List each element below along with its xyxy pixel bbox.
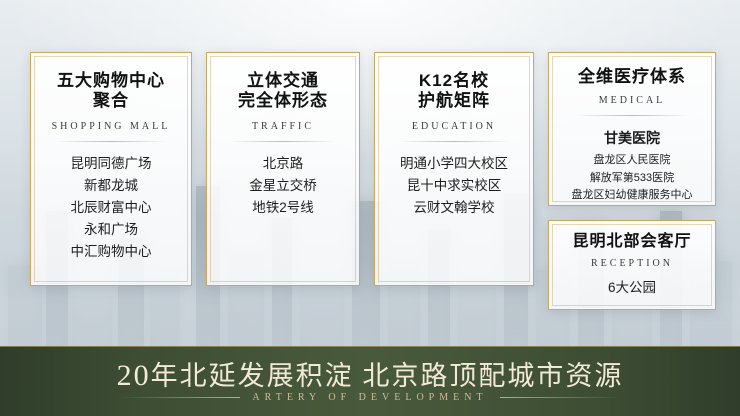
list-item: 明通小学四大校区 [375, 153, 533, 175]
list-item: 中汇购物中心 [31, 241, 191, 263]
card-item-list: 6大公园 [549, 277, 715, 299]
list-item: 北辰财富中心 [31, 197, 191, 219]
card-item-list: 北京路 金星立交桥 地铁2号线 [207, 153, 359, 219]
card-title-line: K12名校 [375, 71, 533, 91]
card-medical: 全维医疗体系 MEDICAL 甘美医院 盘龙区人民医院 解放军第533医院 盘龙… [548, 52, 716, 206]
card-title: K12名校 护航矩阵 [375, 71, 533, 111]
list-item: 金星立交桥 [207, 175, 359, 197]
card-title-line: 聚合 [31, 91, 191, 111]
card-title-line: 五大购物中心 [31, 71, 191, 91]
card-title-line: 昆明北部会客厅 [549, 233, 715, 252]
banner-headline-text: 年北延发展积淀 北京路顶配城市资源 [151, 361, 624, 391]
highlight-item: 甘美医院 [549, 127, 715, 150]
card-item-list: 甘美医院 盘龙区人民医院 解放军第533医院 盘龙区妇幼健康服务中心 [549, 127, 715, 205]
card-traffic: 立体交通 完全体形态 TRAFFIC 北京路 金星立交桥 地铁2号线 [206, 52, 360, 286]
list-item: 盘龙区人民医院 [549, 152, 715, 170]
list-item: 地铁2号线 [207, 197, 359, 219]
list-item: 北京路 [207, 153, 359, 175]
list-item: 永和广场 [31, 219, 191, 241]
card-title-line: 立体交通 [207, 71, 359, 91]
card-title: 全维医疗体系 [549, 67, 715, 87]
list-item: 昆十中求实校区 [375, 175, 533, 197]
card-title: 五大购物中心 聚合 [31, 71, 191, 111]
card-item-list: 明通小学四大校区 昆十中求实校区 云财文翰学校 [375, 153, 533, 219]
list-item: 解放军第533医院 [549, 170, 715, 188]
bottom-banner: 20年北延发展积淀 北京路顶配城市资源 ARTERY OF DEVELOPMEN… [0, 346, 740, 416]
divider-rule [55, 141, 167, 142]
card-education: K12名校 护航矩阵 EDUCATION 明通小学四大校区 昆十中求实校区 云财… [374, 52, 534, 286]
list-item: 云财文翰学校 [375, 197, 533, 219]
banner-subtext: ARTERY OF DEVELOPMENT [0, 392, 740, 403]
divider-rule [574, 115, 690, 116]
info-card-group: 五大购物中心 聚合 SHOPPING MALL 昆明同德广场 新都龙城 北辰财富… [0, 52, 740, 322]
card-subtitle: TRAFFIC [207, 121, 359, 132]
card-title-line: 护航矩阵 [375, 91, 533, 111]
banner-number: 20 [117, 359, 151, 392]
list-item: 6大公园 [549, 277, 715, 299]
card-title-line: 完全体形态 [207, 91, 359, 111]
divider-rule [399, 141, 510, 142]
card-subtitle: RECEPTION [549, 258, 715, 269]
card-subtitle: SHOPPING MALL [31, 121, 191, 132]
card-subtitle: EDUCATION [375, 121, 533, 132]
card-subtitle: MEDICAL [549, 95, 715, 106]
card-title-line: 全维医疗体系 [549, 67, 715, 87]
list-item: 盘龙区妇幼健康服务中心 [549, 187, 715, 205]
list-item: 昆明同德广场 [31, 153, 191, 175]
card-reception: 昆明北部会客厅 RECEPTION 6大公园 [548, 220, 716, 310]
card-title: 立体交通 完全体形态 [207, 71, 359, 111]
banner-headline: 20年北延发展积淀 北京路顶配城市资源 [0, 354, 740, 393]
card-item-list: 昆明同德广场 新都龙城 北辰财富中心 永和广场 中汇购物中心 [31, 153, 191, 262]
card-shopping-mall: 五大购物中心 聚合 SHOPPING MALL 昆明同德广场 新都龙城 北辰财富… [30, 52, 192, 286]
divider-rule [230, 141, 336, 142]
list-item: 新都龙城 [31, 175, 191, 197]
card-title: 昆明北部会客厅 [549, 233, 715, 252]
